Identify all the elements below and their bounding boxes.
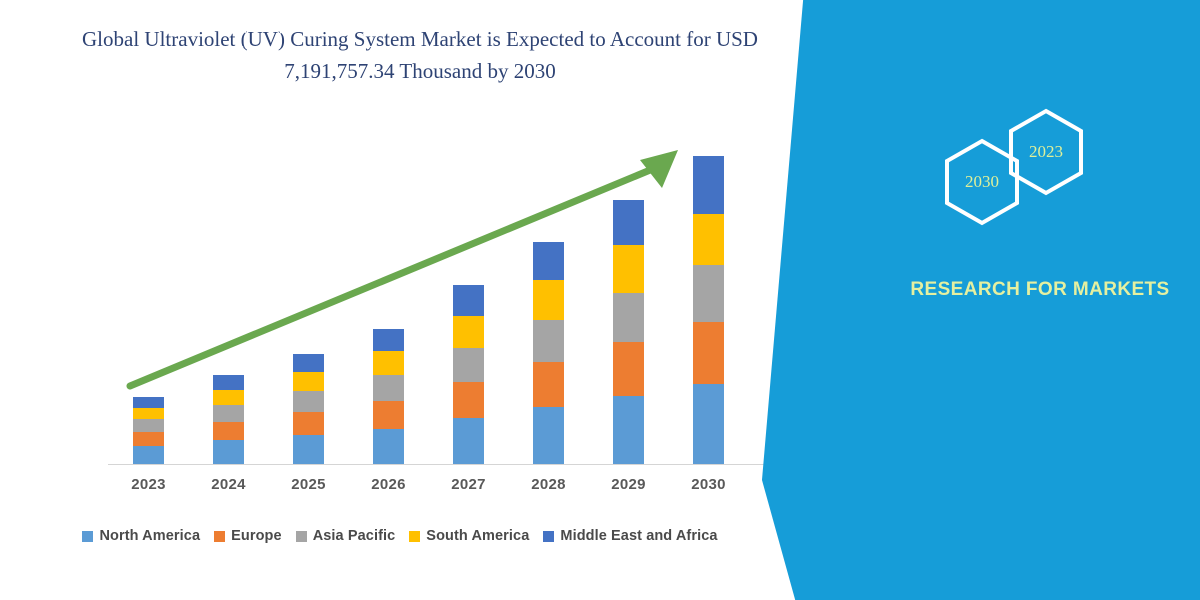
bar-segment-2027-asia-pacific[interactable] [453, 348, 484, 382]
x-axis-label-2025: 2025 [274, 476, 344, 493]
bar-segment-2029-middle-east-and-africa[interactable] [613, 200, 644, 245]
legend-item-north-america[interactable]: North America [82, 528, 200, 544]
bar-segment-2028-asia-pacific[interactable] [533, 320, 564, 362]
bar-segment-2027-south-america[interactable] [453, 316, 484, 348]
bar-2024[interactable] [213, 375, 244, 464]
bar-segment-2027-north-america[interactable] [453, 418, 484, 464]
legend-label: Europe [231, 528, 282, 544]
bar-segment-2028-middle-east-and-africa[interactable] [533, 242, 564, 280]
legend-label: North America [99, 528, 200, 544]
panel-title: Global Ultraviolet (UV) Curing System Ma… [70, 12, 430, 69]
bar-segment-2028-europe[interactable] [533, 362, 564, 407]
x-axis-label-2024: 2024 [194, 476, 264, 493]
chart-legend: North AmericaEuropeAsia PacificSouth Ame… [0, 528, 800, 544]
bar-segment-2029-europe[interactable] [613, 342, 644, 396]
x-axis-label-2028: 2028 [514, 476, 584, 493]
bar-segment-2028-south-america[interactable] [533, 280, 564, 320]
bar-segment-2026-north-america[interactable] [373, 429, 404, 464]
bar-2023[interactable] [133, 397, 164, 464]
bar-segment-2029-asia-pacific[interactable] [613, 293, 644, 342]
bar-segment-2025-north-america[interactable] [293, 435, 324, 464]
legend-label: South America [426, 528, 529, 544]
bar-segment-2024-north-america[interactable] [213, 440, 244, 464]
bar-segment-2027-europe[interactable] [453, 382, 484, 418]
x-axis-label-2023: 2023 [114, 476, 184, 493]
legend-swatch-icon [296, 531, 307, 542]
bar-segment-2030-north-america[interactable] [693, 384, 724, 464]
legend-item-asia-pacific[interactable]: Asia Pacific [296, 528, 396, 544]
hexagon-2023: 2023 [1007, 108, 1085, 196]
hexagon-2023-label: 2023 [1029, 142, 1063, 162]
bar-segment-2027-middle-east-and-africa[interactable] [453, 285, 484, 316]
bar-segment-2024-middle-east-and-africa[interactable] [213, 375, 244, 390]
bar-2027[interactable] [453, 285, 484, 464]
bar-segment-2024-asia-pacific[interactable] [213, 405, 244, 422]
legend-swatch-icon [82, 531, 93, 542]
bar-segment-2026-south-america[interactable] [373, 351, 404, 375]
bar-segment-2023-asia-pacific[interactable] [133, 419, 164, 432]
bar-segment-2023-middle-east-and-africa[interactable] [133, 397, 164, 408]
bar-segment-2023-south-america[interactable] [133, 408, 164, 419]
legend-label: Asia Pacific [313, 528, 396, 544]
bar-segment-2030-middle-east-and-africa[interactable] [693, 156, 724, 214]
x-axis-label-2026: 2026 [354, 476, 424, 493]
bar-segment-2030-south-america[interactable] [693, 214, 724, 265]
bar-segment-2029-north-america[interactable] [613, 396, 644, 464]
bar-segment-2023-europe[interactable] [133, 432, 164, 446]
bar-2028[interactable] [533, 242, 564, 464]
bar-segment-2026-middle-east-and-africa[interactable] [373, 329, 404, 351]
legend-swatch-icon [543, 531, 554, 542]
bar-segment-2025-europe[interactable] [293, 412, 324, 435]
bar-segment-2024-europe[interactable] [213, 422, 244, 440]
legend-swatch-icon [409, 531, 420, 542]
bar-2026[interactable] [373, 329, 404, 464]
x-axis-label-2027: 2027 [434, 476, 504, 493]
bar-segment-2030-asia-pacific[interactable] [693, 265, 724, 322]
bar-2029[interactable] [613, 200, 644, 464]
bar-segment-2026-europe[interactable] [373, 401, 404, 429]
bar-segment-2025-south-america[interactable] [293, 372, 324, 391]
hexagon-2030-label: 2030 [965, 172, 999, 192]
bar-segment-2026-asia-pacific[interactable] [373, 375, 404, 401]
bar-2030[interactable] [693, 156, 724, 464]
bar-segment-2025-asia-pacific[interactable] [293, 391, 324, 412]
bar-segment-2023-north-america[interactable] [133, 446, 164, 464]
growth-trend-arrow [0, 0, 800, 600]
bar-segment-2028-north-america[interactable] [533, 407, 564, 464]
x-axis-label-2029: 2029 [594, 476, 664, 493]
legend-label: Middle East and Africa [560, 528, 717, 544]
bar-segment-2024-south-america[interactable] [213, 390, 244, 405]
infographic-canvas: Global Ultraviolet (UV) Curing System Ma… [0, 0, 1200, 600]
bar-2025[interactable] [293, 354, 324, 464]
legend-item-europe[interactable]: Europe [214, 528, 282, 544]
bar-segment-2029-south-america[interactable] [613, 245, 644, 293]
legend-item-south-america[interactable]: South America [409, 528, 529, 544]
bar-segment-2025-middle-east-and-africa[interactable] [293, 354, 324, 372]
x-axis-line [108, 464, 768, 465]
bar-segment-2030-europe[interactable] [693, 322, 724, 384]
legend-item-middle-east-and-africa[interactable]: Middle East and Africa [543, 528, 717, 544]
logo-hexagons: 2030 2023 [935, 108, 1115, 228]
legend-swatch-icon [214, 531, 225, 542]
x-axis-label-2030: 2030 [674, 476, 744, 493]
brand-name: RESEARCH FOR MARKETS [880, 276, 1200, 304]
chart-panel: Global Ultraviolet (UV) Curing System Ma… [0, 0, 800, 600]
